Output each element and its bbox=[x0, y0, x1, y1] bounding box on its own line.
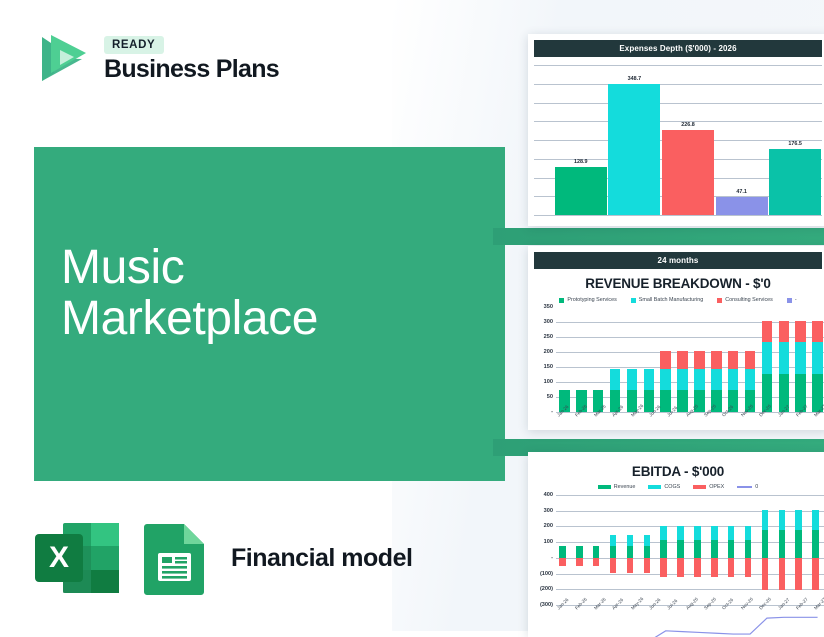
legend-swatch bbox=[631, 298, 636, 303]
ebitda-trend-line bbox=[556, 495, 824, 637]
revenue-breakdown-chart-card[interactable]: 24 months REVENUE BREAKDOWN - $'0 Protot… bbox=[528, 246, 824, 430]
legend-item: Small Batch Manufacturing bbox=[631, 297, 703, 303]
bar-value-label: 226.8 bbox=[662, 122, 714, 128]
play-triangle-logo-icon bbox=[30, 28, 92, 90]
footer-block: X Financial model bbox=[33, 521, 412, 595]
axis-tick-label: 300 bbox=[544, 319, 553, 325]
legend-swatch bbox=[693, 485, 706, 489]
bar-column[interactable] bbox=[809, 307, 824, 412]
bar-segment[interactable] bbox=[812, 342, 822, 374]
bar-column[interactable] bbox=[573, 307, 590, 412]
bar-column[interactable] bbox=[691, 307, 708, 412]
axis-tick-label: 150 bbox=[544, 364, 553, 370]
bar-column[interactable] bbox=[759, 307, 776, 412]
axis-tick-label: (200) bbox=[540, 586, 553, 592]
ready-badge: READY bbox=[104, 36, 164, 54]
legend-item: 0 bbox=[737, 484, 758, 490]
google-sheets-icon bbox=[138, 521, 210, 595]
legend-swatch bbox=[559, 298, 564, 303]
bar-column[interactable]: 47.1 bbox=[716, 65, 768, 215]
revenue-chart-legend: Prototyping ServicesSmall Batch Manufact… bbox=[528, 297, 824, 303]
bar-column[interactable] bbox=[607, 307, 624, 412]
bar-column[interactable] bbox=[657, 307, 674, 412]
bar-segment[interactable] bbox=[660, 390, 670, 413]
bar-column[interactable]: 176.5 bbox=[769, 65, 821, 215]
ebitda-chart-card[interactable]: EBITDA - $'000 RevenueCOGSOPEX0 40030020… bbox=[528, 452, 824, 637]
expenses-chart-card[interactable]: Expenses Depth ($'000) - 2026 128.9348.7… bbox=[528, 34, 824, 226]
bar-segment[interactable] bbox=[694, 351, 704, 369]
bar-segment[interactable] bbox=[660, 369, 670, 390]
bar-column[interactable] bbox=[640, 307, 657, 412]
axis-tick-label: 250 bbox=[544, 334, 553, 340]
page-title: Music Marketplace bbox=[61, 243, 318, 345]
revenue-chart-xaxis: Jan-26Feb-26Mar-26Apr-26May-26Jun-26Jul-… bbox=[556, 414, 824, 419]
bar-segment[interactable] bbox=[762, 321, 772, 343]
bar-segment[interactable] bbox=[660, 351, 670, 369]
bar-segment[interactable] bbox=[677, 351, 687, 369]
ebitda-chart-title: EBITDA - $'000 bbox=[528, 464, 824, 479]
bar-segment[interactable] bbox=[728, 369, 738, 390]
revenue-chart-title: REVENUE BREAKDOWN - $'0 bbox=[528, 276, 824, 291]
legend-label: - bbox=[795, 297, 797, 303]
axis-tick-label: 350 bbox=[544, 304, 553, 310]
axis-tick-label: - bbox=[551, 555, 553, 561]
legend-label: Prototyping Services bbox=[567, 297, 616, 303]
axis-tick-label: 100 bbox=[544, 539, 553, 545]
bar-segment[interactable] bbox=[694, 369, 704, 390]
bar-segment[interactable] bbox=[728, 351, 738, 369]
axis-tick-label: 300 bbox=[544, 508, 553, 514]
bar-value-label: 348.7 bbox=[608, 76, 660, 82]
financial-model-label: Financial model bbox=[231, 544, 412, 573]
bar-segment[interactable] bbox=[779, 342, 789, 374]
bar-segment[interactable] bbox=[644, 369, 654, 390]
legend-label: OPEX bbox=[709, 484, 724, 490]
legend-label: Consulting Services bbox=[725, 297, 773, 303]
ebitda-chart-legend: RevenueCOGSOPEX0 bbox=[528, 484, 824, 490]
axis-tick-label: (300) bbox=[540, 602, 553, 608]
bar-segment[interactable] bbox=[795, 321, 805, 343]
bar-segment[interactable] bbox=[795, 342, 805, 374]
legend-item: COGS bbox=[648, 484, 680, 490]
axis-tick-label: 100 bbox=[544, 379, 553, 385]
bar-segment[interactable] bbox=[627, 369, 637, 390]
bar-segment[interactable] bbox=[677, 369, 687, 390]
legend-label: Revenue bbox=[614, 484, 636, 490]
bar-column[interactable] bbox=[556, 307, 573, 412]
bar-segment[interactable] bbox=[711, 369, 721, 390]
axis-tick-label: 400 bbox=[544, 492, 553, 498]
bar-segment[interactable] bbox=[711, 351, 721, 369]
bar[interactable] bbox=[716, 197, 768, 215]
bar-segment[interactable] bbox=[745, 369, 755, 390]
bar[interactable] bbox=[608, 84, 660, 215]
legend-swatch bbox=[737, 486, 752, 488]
bar-column[interactable]: 226.8 bbox=[662, 65, 714, 215]
revenue-chart-banner: 24 months bbox=[534, 252, 822, 269]
bar-column[interactable] bbox=[624, 307, 641, 412]
bar-segment[interactable] bbox=[779, 321, 789, 343]
bar-column[interactable] bbox=[725, 307, 742, 412]
bar-segment[interactable] bbox=[610, 369, 620, 390]
axis-tick-label: 200 bbox=[544, 349, 553, 355]
bar-segment[interactable] bbox=[762, 342, 772, 374]
legend-swatch bbox=[648, 485, 661, 489]
legend-item: OPEX bbox=[693, 484, 724, 490]
svg-text:X: X bbox=[49, 541, 69, 574]
trend-line bbox=[564, 617, 817, 637]
bar-segment[interactable] bbox=[745, 351, 755, 369]
bar-value-label: 47.1 bbox=[716, 189, 768, 195]
bar-column[interactable] bbox=[775, 307, 792, 412]
brand-logo-block: READY Business Plans bbox=[30, 28, 279, 90]
bar-column[interactable] bbox=[590, 307, 607, 412]
accent-band-1 bbox=[493, 228, 824, 245]
bar-column[interactable] bbox=[742, 307, 759, 412]
bar-column[interactable] bbox=[674, 307, 691, 412]
expenses-chart-title: Expenses Depth ($'000) - 2026 bbox=[534, 40, 822, 57]
legend-item: - bbox=[787, 297, 797, 303]
legend-item: Prototyping Services bbox=[559, 297, 616, 303]
bar[interactable] bbox=[662, 130, 714, 215]
legend-swatch bbox=[598, 485, 611, 489]
hero-panel: Music Marketplace bbox=[34, 147, 505, 481]
legend-label: 0 bbox=[755, 484, 758, 490]
bar-column[interactable]: 348.7 bbox=[608, 65, 660, 215]
legend-swatch bbox=[717, 298, 722, 303]
bar-column[interactable] bbox=[792, 307, 809, 412]
axis-tick-label: (100) bbox=[540, 571, 553, 577]
gridline bbox=[534, 215, 822, 216]
axis-tick-label: 50 bbox=[547, 394, 553, 400]
bar-column[interactable] bbox=[708, 307, 725, 412]
bar[interactable] bbox=[555, 167, 607, 215]
ebitda-chart-xaxis: Jan-26Feb-26Mar-26Apr-26May-26Jun-26Jul-… bbox=[556, 607, 824, 612]
axis-tick-label: - bbox=[551, 409, 553, 415]
axis-tick-label: 200 bbox=[544, 523, 553, 529]
bar-column[interactable]: 128.9 bbox=[555, 65, 607, 215]
legend-item: Consulting Services bbox=[717, 297, 773, 303]
legend-label: Small Batch Manufacturing bbox=[639, 297, 703, 303]
legend-item: Revenue bbox=[598, 484, 636, 490]
excel-file-icon: X bbox=[33, 521, 121, 595]
legend-label: COGS bbox=[664, 484, 680, 490]
legend-swatch bbox=[787, 298, 792, 303]
bar-value-label: 128.9 bbox=[555, 159, 607, 165]
bar-value-label: 176.5 bbox=[769, 141, 821, 147]
brand-name: Business Plans bbox=[104, 57, 279, 82]
bar[interactable] bbox=[769, 149, 821, 215]
bar-segment[interactable] bbox=[812, 321, 822, 343]
